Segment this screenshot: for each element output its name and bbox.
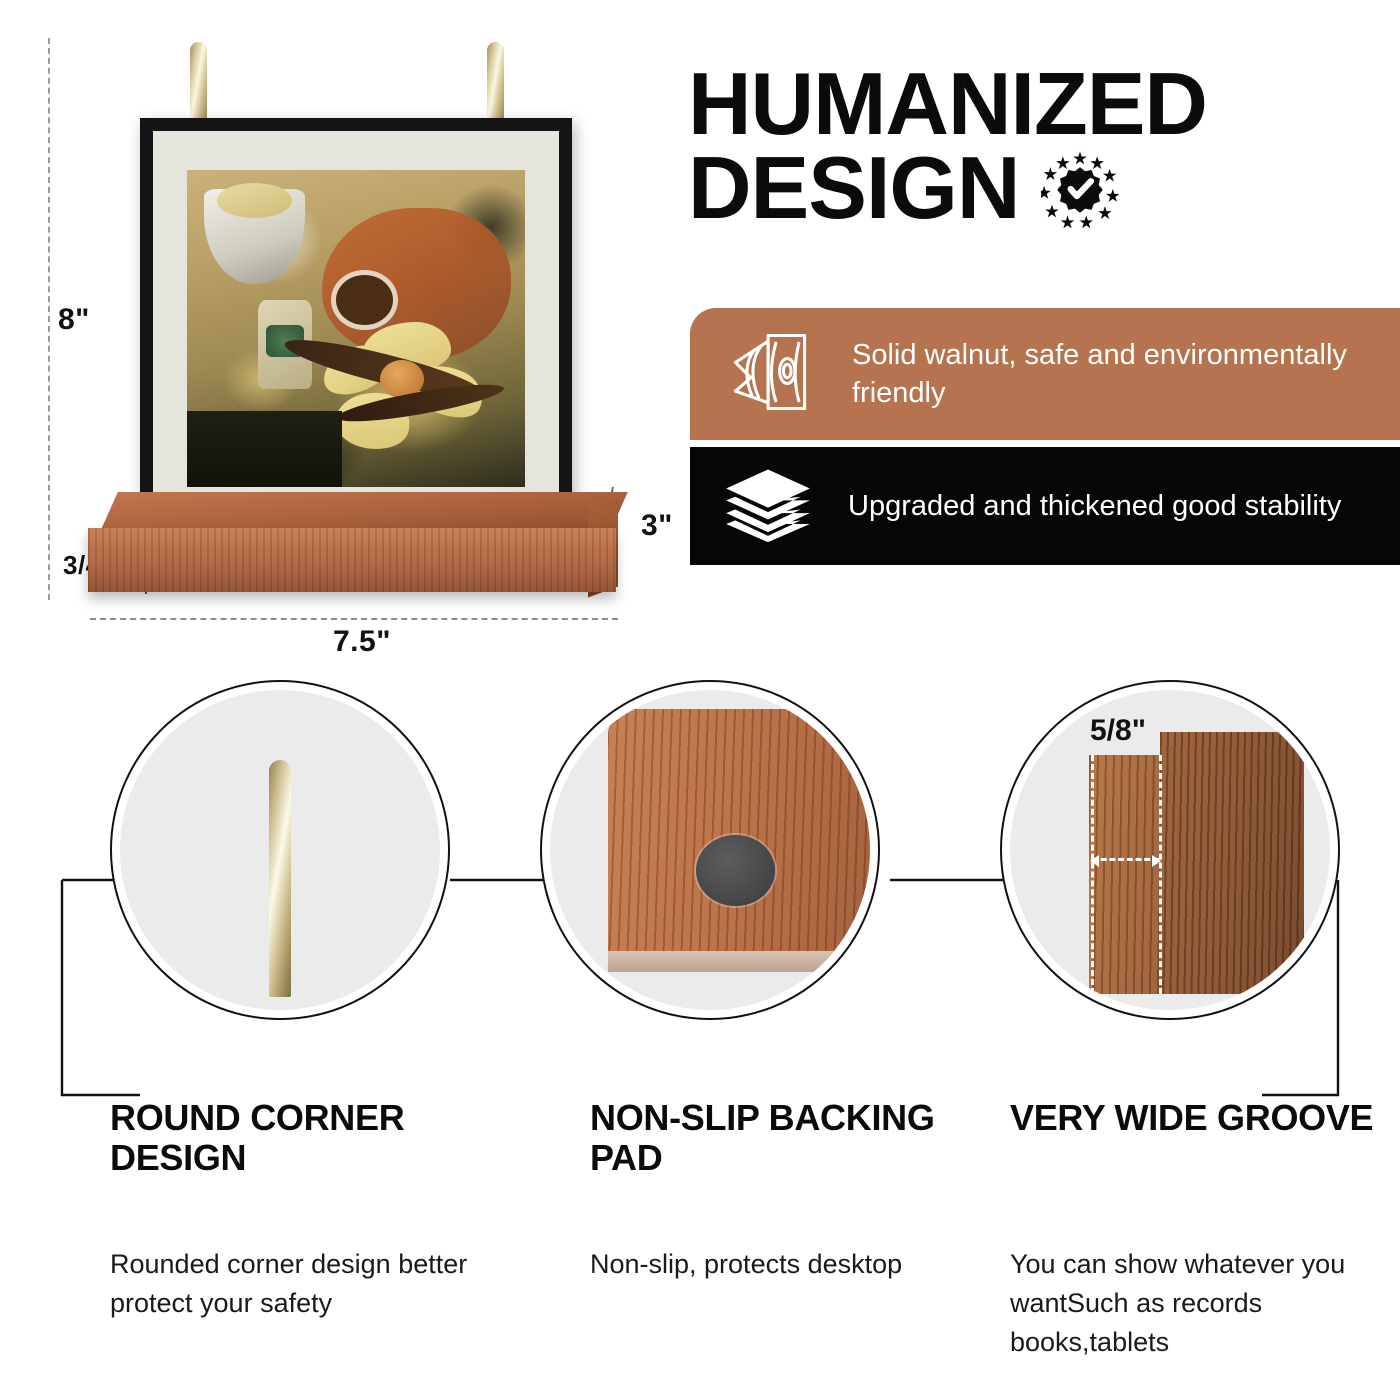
product-infographic: 8" 3/4" 7.5" 3" <box>0 0 1400 1400</box>
wood-base-front <box>88 528 616 592</box>
width-dimension-line <box>90 618 618 620</box>
picture-frame <box>140 118 572 539</box>
depth-label: 3" <box>641 509 673 543</box>
frame-mat <box>153 131 559 526</box>
wood-plank-icon <box>722 324 818 425</box>
feature-circle-non-slip-pad <box>540 680 880 1020</box>
feature-banner-material: Solid walnut, safe and environmentally f… <box>690 308 1400 440</box>
feature-circle-round-corner <box>110 680 450 1020</box>
feature-body-non-slip: Non-slip, protects desktop <box>590 1245 980 1284</box>
verified-seal-icon <box>1041 150 1119 228</box>
metal-rod-icon <box>269 760 291 997</box>
feature-banner-stability: Upgraded and thickened good stability <box>690 447 1400 565</box>
feature-body-round-corner: Rounded corner design better protect you… <box>110 1245 500 1323</box>
feature-title-round-corner: ROUND CORNER DESIGN <box>110 1098 490 1179</box>
width-label: 7.5" <box>333 625 391 659</box>
headline-line-2: DESIGN <box>688 146 1019 230</box>
height-dimension-line <box>48 38 50 600</box>
non-slip-pad-icon <box>608 709 870 971</box>
feature-body-wide-groove: You can show whatever you wantSuch as re… <box>1010 1245 1400 1362</box>
stacked-layers-icon <box>722 464 814 549</box>
product-photo-panel: 8" 3/4" 7.5" 3" <box>0 0 690 660</box>
height-label: 8" <box>58 303 90 337</box>
wood-base-top <box>100 492 628 532</box>
headline-line-1: HUMANIZED <box>688 62 1388 146</box>
artwork-still-life <box>187 170 525 487</box>
feature-title-non-slip: NON-SLIP BACKING PAD <box>590 1098 970 1179</box>
groove-width-label: 5/8" <box>1090 714 1146 748</box>
feature-circle-wide-groove <box>1000 680 1340 1020</box>
wide-groove-icon <box>1042 732 1304 994</box>
banner-material-text: Solid walnut, safe and environmentally f… <box>852 336 1400 413</box>
page-title: HUMANIZED DESIGN <box>688 62 1388 231</box>
banner-stability-text: Upgraded and thickened good stability <box>848 487 1341 525</box>
feature-title-wide-groove: VERY WIDE GROOVE <box>1010 1098 1390 1138</box>
